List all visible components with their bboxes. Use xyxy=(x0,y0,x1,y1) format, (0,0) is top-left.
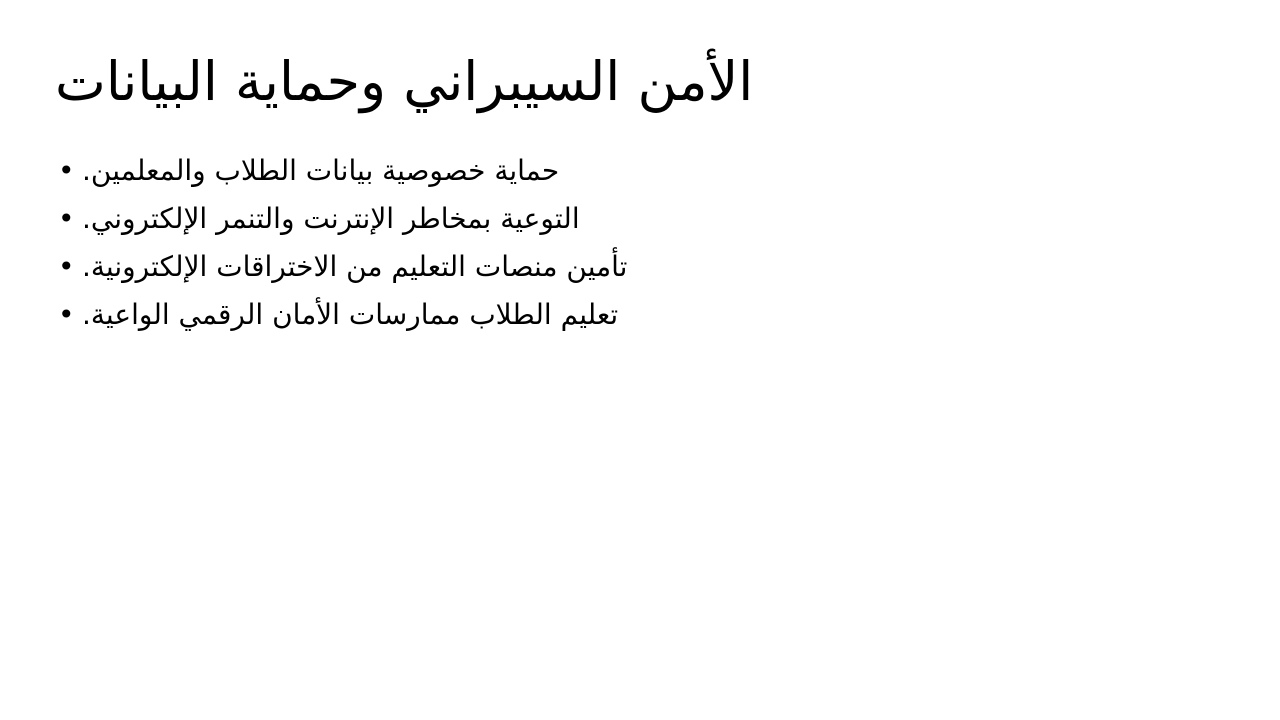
bullet-point-icon: • xyxy=(58,195,78,243)
list-item: • تأمين منصات التعليم من الاختراقات الإل… xyxy=(55,243,1235,291)
bullet-point-icon: • xyxy=(58,291,78,339)
list-item-label: حماية خصوصية بيانات الطلاب والمعلمين. xyxy=(82,147,559,195)
list-item-label: تعليم الطلاب ممارسات الأمان الرقمي الواع… xyxy=(82,291,618,339)
page-title: الأمن السيبراني وحماية البيانات xyxy=(55,48,1225,116)
bullet-point-icon: • xyxy=(58,147,78,195)
list-item: • تعليم الطلاب ممارسات الأمان الرقمي الو… xyxy=(55,291,1235,339)
list-item: • حماية خصوصية بيانات الطلاب والمعلمين. xyxy=(55,147,1235,195)
bullet-point-icon: • xyxy=(58,243,78,291)
bullet-list: • حماية خصوصية بيانات الطلاب والمعلمين. … xyxy=(55,147,1235,339)
list-item-label: تأمين منصات التعليم من الاختراقات الإلكت… xyxy=(82,243,627,291)
list-item-label: التوعية بمخاطر الإنترنت والتنمر الإلكترو… xyxy=(82,195,580,243)
slide-canvas: الأمن السيبراني وحماية البيانات • حماية … xyxy=(0,0,1280,720)
list-item: • التوعية بمخاطر الإنترنت والتنمر الإلكت… xyxy=(55,195,1235,243)
